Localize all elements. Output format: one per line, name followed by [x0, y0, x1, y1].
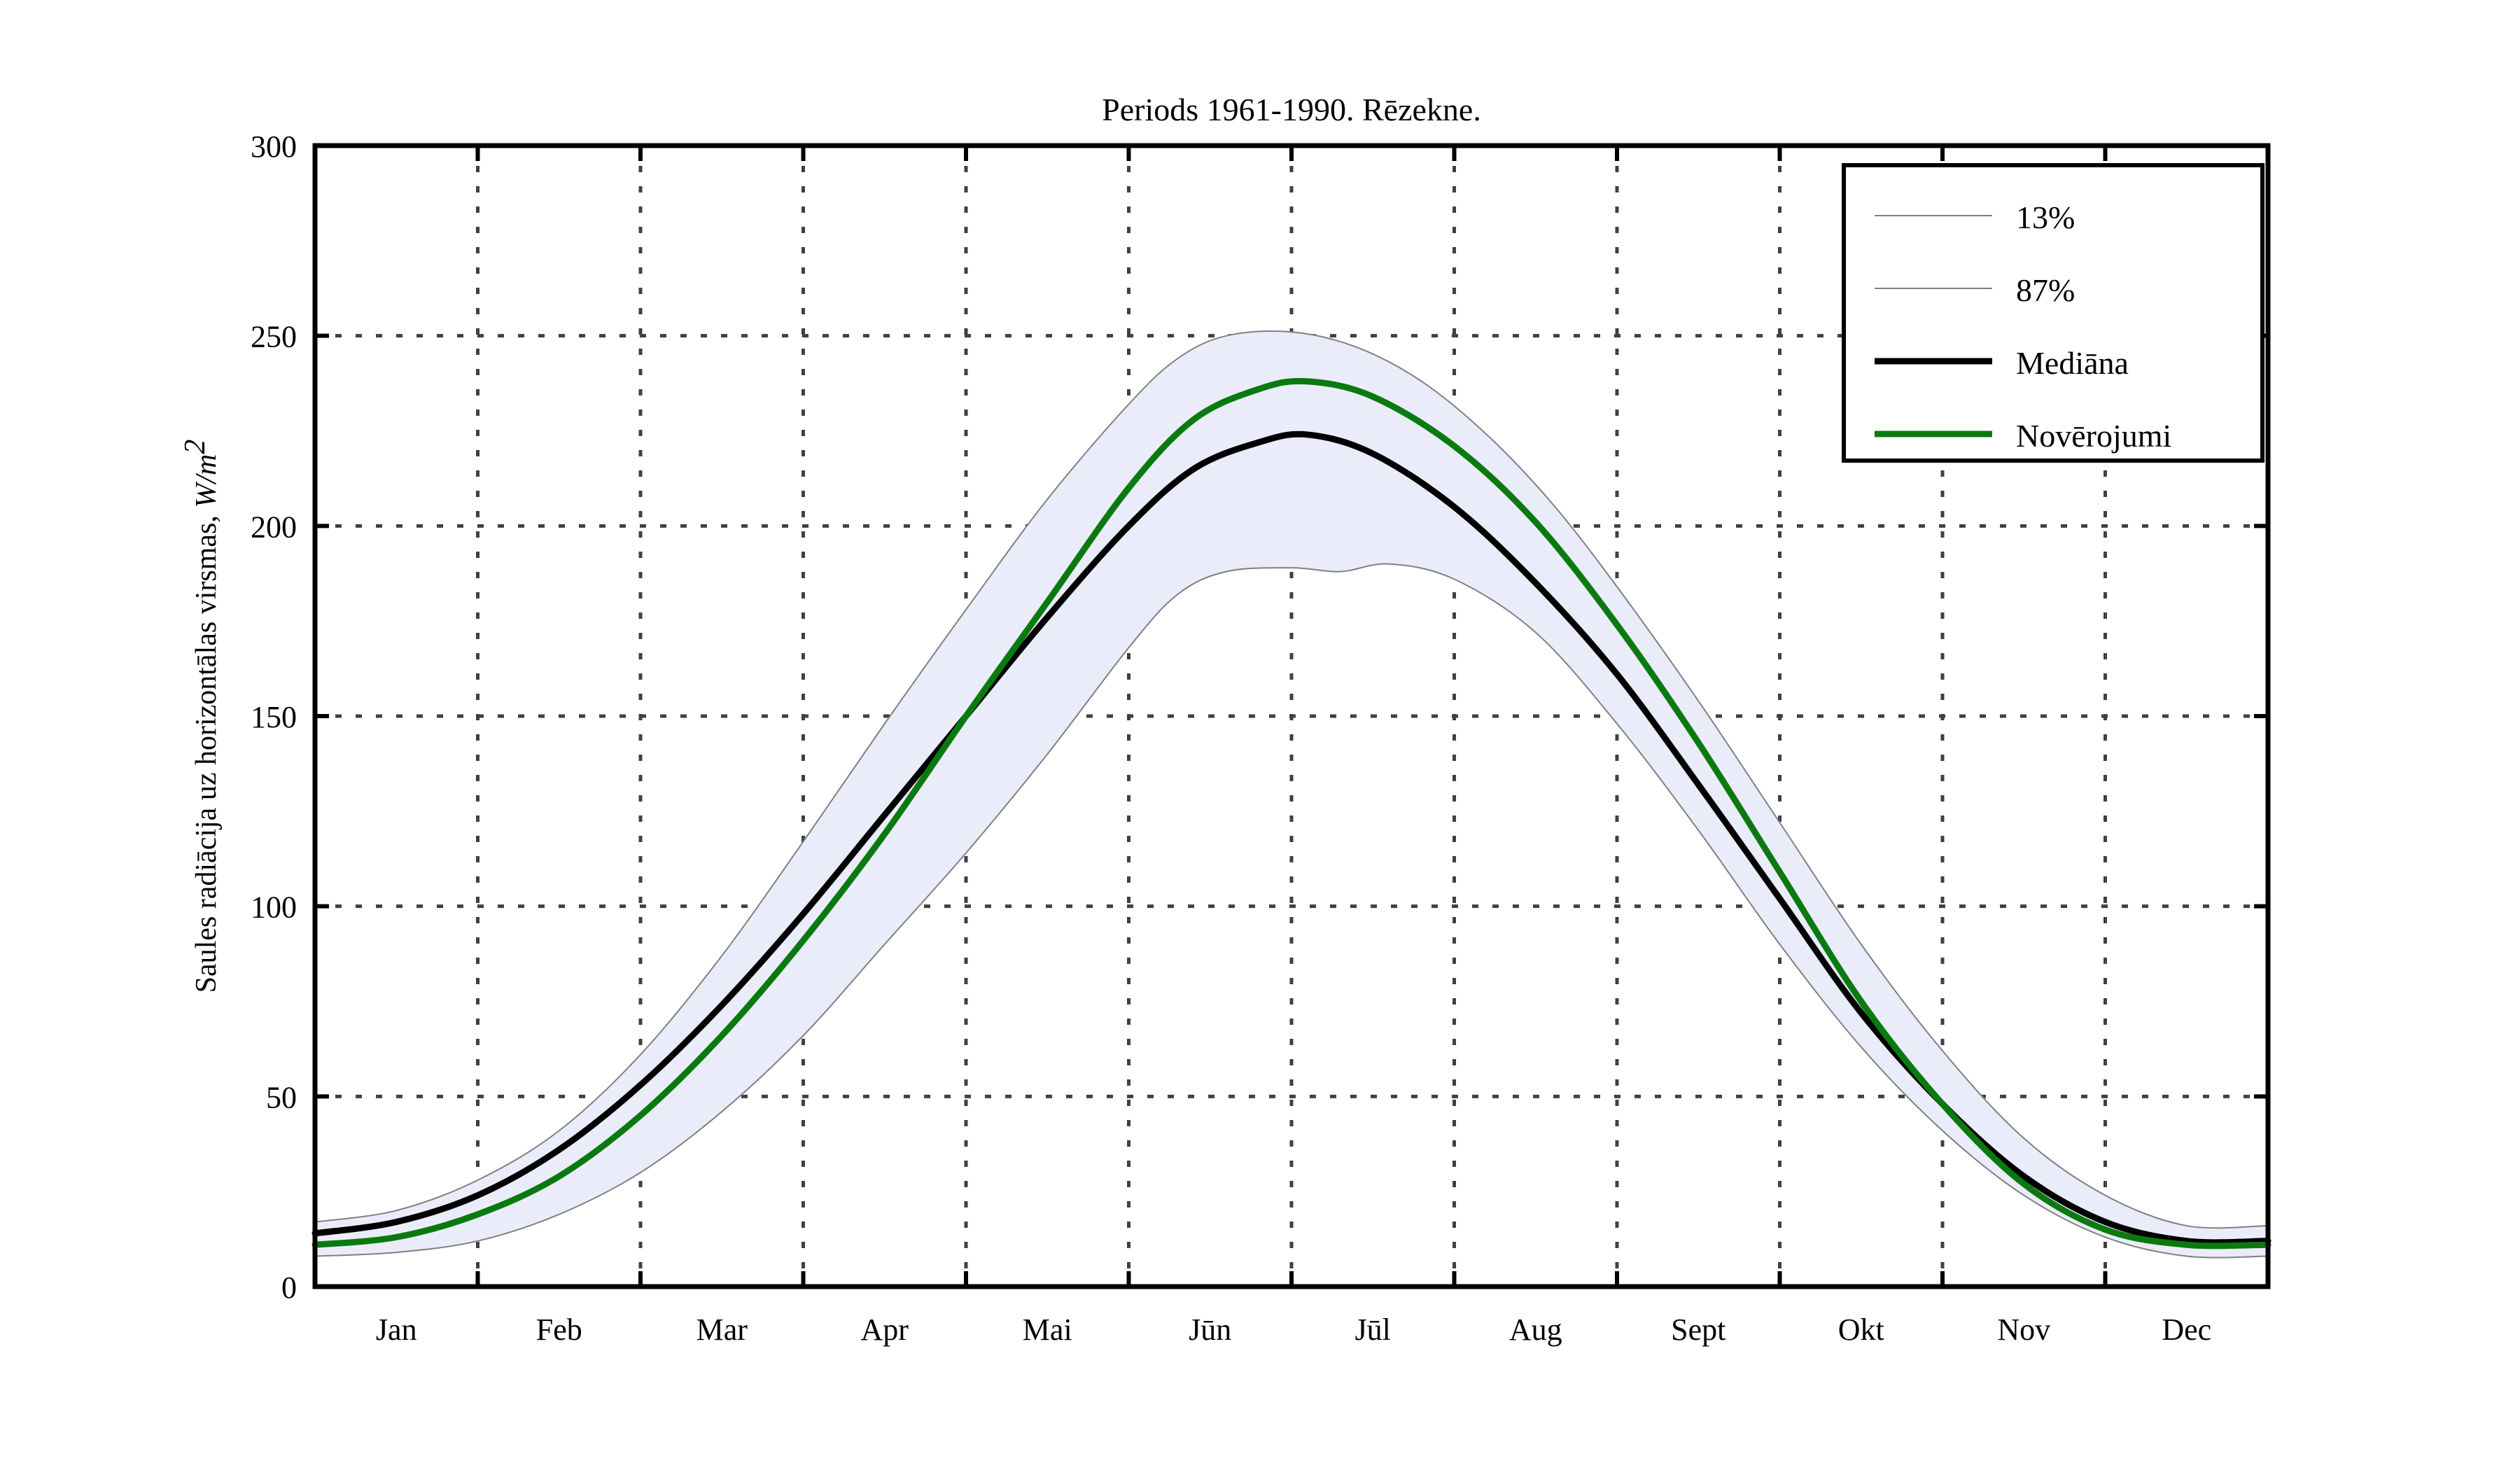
x-tick-label-Sept: Sept — [1671, 1312, 1725, 1347]
y-tick-label-0: 0 — [281, 1270, 297, 1305]
y-tick-label-100: 100 — [251, 890, 297, 925]
x-tick-label-Jūn: Jūn — [1189, 1312, 1231, 1347]
legend-label-87[interactable]: 87% — [2016, 272, 2075, 308]
y-tick-label-200: 200 — [251, 510, 297, 544]
legend-label-13[interactable]: 13% — [2016, 199, 2075, 235]
legend-label-novrojumi[interactable]: Novērojumi — [2016, 418, 2171, 454]
y-tick-label-250: 250 — [251, 320, 297, 354]
x-tick-label-Dec: Dec — [2162, 1312, 2211, 1347]
x-tick-label-Aug: Aug — [1509, 1312, 1562, 1347]
x-tick-label-Mar: Mar — [696, 1312, 748, 1347]
x-tick-label-Jūl: Jūl — [1355, 1312, 1391, 1347]
x-tick-label-Feb: Feb — [536, 1312, 582, 1347]
y-tick-label-150: 150 — [251, 700, 297, 734]
y-tick-label-50: 50 — [266, 1080, 297, 1114]
y-axis-label-exponent: 2 — [179, 440, 211, 454]
solar-radiation-chart: 050100150200250300 JanFebMarAprMaiJūnJūl… — [0, 0, 2520, 1470]
x-tick-label-Jan: Jan — [376, 1312, 417, 1347]
y-axis-label-text: Saules radiācija uz horizontālas virsmas… — [190, 508, 223, 993]
y-tick-label-300: 300 — [251, 129, 297, 164]
y-axis-label-unit: W/m — [190, 454, 223, 508]
x-tick-label-Okt: Okt — [1838, 1312, 1884, 1347]
chart-legend[interactable]: 13%87%MediānaNovērojumi — [1844, 165, 2262, 461]
x-tick-label-Mai: Mai — [1023, 1312, 1072, 1347]
x-tick-label-Nov: Nov — [1997, 1312, 2050, 1347]
x-tick-label-Apr: Apr — [861, 1312, 909, 1347]
legend-label-medina[interactable]: Mediāna — [2016, 345, 2129, 381]
chart-title: Periods 1961-1990. Rēzekne. — [1102, 92, 1481, 127]
chart-page: 050100150200250300 JanFebMarAprMaiJūnJūl… — [0, 0, 2520, 1470]
